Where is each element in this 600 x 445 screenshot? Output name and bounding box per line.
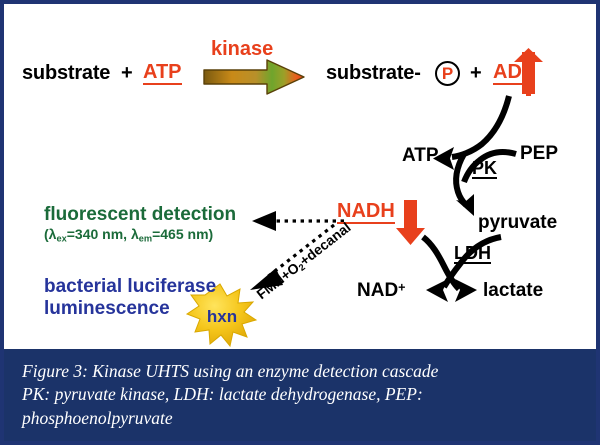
fluorescent-detection-parameters: (λex=340 nm, λem=465 nm) <box>44 226 213 243</box>
pk-atp-label: ATP <box>402 145 439 167</box>
plus-sign-2: + <box>470 62 481 85</box>
nadh-down-arrow-icon <box>396 200 425 245</box>
excitation-value: =340 nm, λ <box>67 226 139 242</box>
pk-pyruvate-label: pyruvate <box>478 212 557 234</box>
ldh-enzyme-label: LDH <box>454 244 491 264</box>
lactate-label: lactate <box>483 280 543 302</box>
fluorescent-detection-title: fluorescent detection <box>44 204 236 226</box>
lambda-em-sub: em <box>139 233 152 243</box>
adp-product-label: ADP <box>493 62 535 85</box>
kinase-reaction-arrow <box>204 60 304 94</box>
pk-enzyme-label: PK <box>472 159 497 179</box>
plus-sign-1: + <box>121 62 132 85</box>
lambda-open: (λ <box>44 226 56 242</box>
caption-line-3: phosphoenolpyruvate <box>22 407 578 430</box>
diagram-canvas: kinase substrate + ATP substrate- P + AD… <box>4 4 596 349</box>
phosphate-circle-icon: P <box>435 61 460 86</box>
kinase-enzyme-label: kinase <box>211 38 273 61</box>
lambda-ex-sub: ex <box>56 233 66 243</box>
pk-pep-label: PEP <box>520 143 558 165</box>
pk-adp-to-atp-curve <box>433 96 509 170</box>
luminescence-line-1: bacterial luciferase <box>44 276 216 298</box>
substrate-label: substrate <box>22 62 110 85</box>
emission-value: =465 nm) <box>152 226 213 242</box>
caption-line-2: PK: pyruvate kinase, LDH: lactate dehydr… <box>22 383 578 406</box>
substrate-product-label: substrate- <box>326 62 421 85</box>
nad-plus-text: NAD <box>357 280 398 301</box>
figure-panel: kinase substrate + ATP substrate- P + AD… <box>0 0 600 445</box>
nad-plus-label: NAD+ <box>357 280 406 302</box>
caption-line-1: Figure 3: Kinase UHTS using an enzyme de… <box>22 360 578 383</box>
nad-plus-superscript: + <box>398 280 405 294</box>
photon-label: hxn <box>187 307 257 327</box>
atp-reactant-label: ATP <box>143 62 182 85</box>
figure-caption: Figure 3: Kinase UHTS using an enzyme de… <box>4 349 596 441</box>
